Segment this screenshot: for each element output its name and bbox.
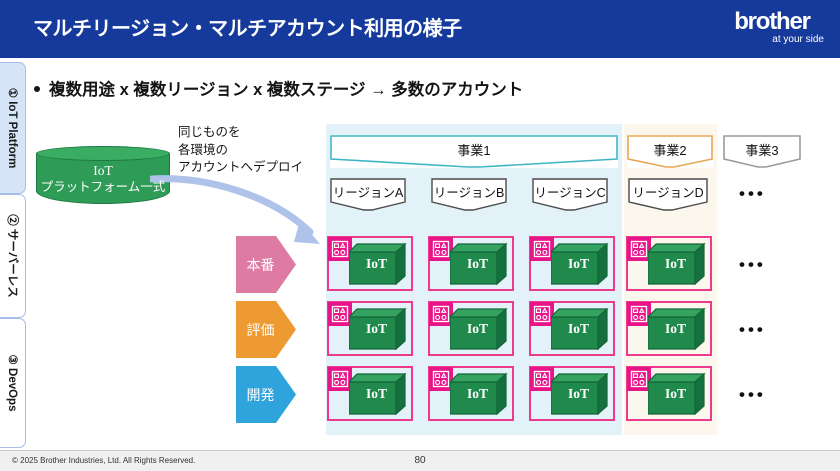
iot-cube-label: IoT: [648, 321, 703, 337]
region-label: リージョンB: [431, 182, 507, 201]
business-label: 事業1: [330, 138, 618, 164]
account-cell-ellipsis: •••: [739, 255, 766, 275]
iot-cube-icon: IoT: [450, 373, 512, 415]
sidebar-item-serverless[interactable]: ② サーバーレス: [0, 194, 26, 318]
stage-chevron-development[interactable]: 開発: [236, 366, 296, 423]
deploy-note-line-2: 各環境の: [178, 142, 303, 160]
iot-cube-label: IoT: [349, 386, 404, 402]
bullet-dot-icon: [34, 86, 40, 92]
stage-label: 開発: [238, 385, 283, 405]
iot-cube-label: IoT: [450, 386, 505, 402]
account-cell[interactable]: IoT: [428, 366, 514, 421]
cylinder-text: IoT プラットフォーム一式: [36, 162, 170, 196]
sidebar-tabs: ① IoT Platform ② サーバーレス ③ DevOps: [0, 62, 26, 448]
deploy-note-line-1: 同じものを: [178, 124, 303, 142]
sidebar-item-devops[interactable]: ③ DevOps: [0, 318, 26, 448]
account-cell[interactable]: IoT: [626, 366, 712, 421]
iot-cube-label: IoT: [648, 386, 703, 402]
account-cell[interactable]: IoT: [626, 301, 712, 356]
iot-cube-icon: IoT: [551, 243, 613, 285]
header-underline: [0, 58, 840, 62]
iot-cube-label: IoT: [648, 256, 703, 272]
region-header-ellipsis: •••: [739, 184, 766, 204]
iot-cube-icon: IoT: [648, 373, 710, 415]
region-label: リージョンD: [628, 182, 708, 201]
sidebar-item-iot-platform[interactable]: ① IoT Platform: [0, 62, 26, 194]
iot-cube-icon: IoT: [349, 243, 411, 285]
account-cell[interactable]: IoT: [428, 236, 514, 291]
bullet-text: 複数用途 x 複数リージョン x 複数ステージ → 多数のアカウント: [49, 81, 523, 99]
iot-cube-label: IoT: [349, 321, 404, 337]
region-header-c[interactable]: リージョンC: [532, 178, 608, 211]
iot-cube-icon: IoT: [349, 373, 411, 415]
brother-logo: brother at your side: [718, 10, 826, 46]
iot-platform-cylinder: IoT プラットフォーム一式: [36, 146, 170, 204]
business-header-1[interactable]: 事業1: [330, 135, 618, 168]
iot-cube-icon: IoT: [551, 373, 613, 415]
business-header-3[interactable]: 事業3: [723, 135, 801, 168]
iot-cube-label: IoT: [551, 321, 606, 337]
iot-cube-label: IoT: [551, 256, 606, 272]
logo-tagline: at your side: [718, 34, 826, 46]
sidebar-item-label: ③ DevOps: [6, 355, 20, 412]
account-cell[interactable]: IoT: [529, 301, 615, 356]
iot-cube-label: IoT: [349, 256, 404, 272]
iot-cube-icon: IoT: [349, 308, 411, 350]
iot-cube-icon: IoT: [648, 308, 710, 350]
stage-label: 評価: [238, 320, 283, 340]
region-header-d[interactable]: リージョンD: [628, 178, 708, 211]
iot-cube-icon: IoT: [450, 243, 512, 285]
cylinder-label-line2: プラットフォーム一式: [36, 179, 170, 196]
iot-cube-label: IoT: [450, 256, 505, 272]
sidebar-item-label: ② サーバーレス: [5, 214, 21, 298]
region-label: リージョンA: [330, 182, 406, 201]
region-label: リージョンC: [532, 182, 608, 201]
iot-cube-label: IoT: [450, 321, 505, 337]
account-cell[interactable]: IoT: [327, 236, 413, 291]
account-cell[interactable]: IoT: [529, 236, 615, 291]
slide-canvas: マルチリージョン・マルチアカウント利用の様子 brother at your s…: [0, 0, 840, 471]
account-cell-ellipsis: •••: [739, 320, 766, 340]
logo-wordmark: brother: [718, 10, 826, 34]
stage-chevron-evaluation[interactable]: 評価: [236, 301, 296, 358]
region-header-b[interactable]: リージョンB: [431, 178, 507, 211]
account-cell-ellipsis: •••: [739, 385, 766, 405]
stage-label: 本番: [238, 255, 283, 275]
business-label: 事業2: [627, 138, 713, 164]
account-cell[interactable]: IoT: [428, 301, 514, 356]
iot-cube-icon: IoT: [450, 308, 512, 350]
page-title: マルチリージョン・マルチアカウント利用の様子: [33, 12, 462, 41]
iot-cube-label: IoT: [551, 386, 606, 402]
account-cell[interactable]: IoT: [529, 366, 615, 421]
business-header-2[interactable]: 事業2: [627, 135, 713, 168]
cylinder-top-ellipse: [36, 146, 170, 161]
business-label: 事業3: [723, 138, 801, 164]
iot-cube-icon: IoT: [551, 308, 613, 350]
page-number: 80: [0, 455, 840, 466]
account-cell[interactable]: IoT: [327, 301, 413, 356]
account-cell[interactable]: IoT: [327, 366, 413, 421]
bullet-heading: 複数用途 x 複数リージョン x 複数ステージ → 多数のアカウント: [34, 76, 523, 100]
region-header-a[interactable]: リージョンA: [330, 178, 406, 211]
cylinder-label-line1: IoT: [36, 162, 170, 179]
sidebar-item-label: ① IoT Platform: [6, 88, 20, 169]
stage-chevron-production[interactable]: 本番: [236, 236, 296, 293]
iot-cube-icon: IoT: [648, 243, 710, 285]
account-cell[interactable]: IoT: [626, 236, 712, 291]
